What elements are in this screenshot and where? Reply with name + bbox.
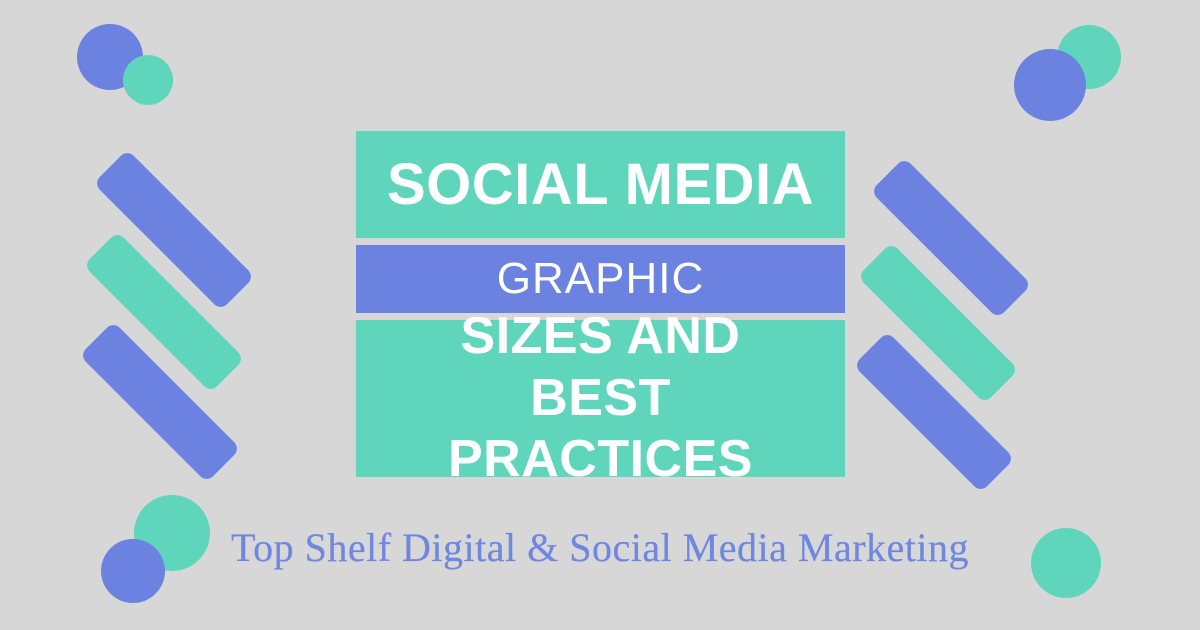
social-media-graphic-poster: SOCIAL MEDIA GRAPHIC SIZES AND BEST PRAC… [0, 0, 1200, 630]
band-social-media-text: SOCIAL MEDIA [387, 156, 814, 214]
band-sizes-best-practices: SIZES AND BEST PRACTICES [356, 320, 845, 477]
band-graphic: GRAPHIC [356, 245, 845, 313]
band-sizes-best-practices-text: SIZES AND BEST PRACTICES [391, 306, 811, 490]
band-social-media: SOCIAL MEDIA [356, 131, 845, 238]
band-gap-one [356, 238, 845, 245]
circle-top-left-teal [123, 55, 173, 105]
band-graphic-text: GRAPHIC [497, 257, 704, 301]
title-band-stack: SOCIAL MEDIA GRAPHIC SIZES AND BEST PRAC… [356, 131, 845, 477]
circle-top-right-blue [1014, 49, 1086, 121]
poster-subtitle: Top Shelf Digital & Social Media Marketi… [0, 524, 1200, 571]
